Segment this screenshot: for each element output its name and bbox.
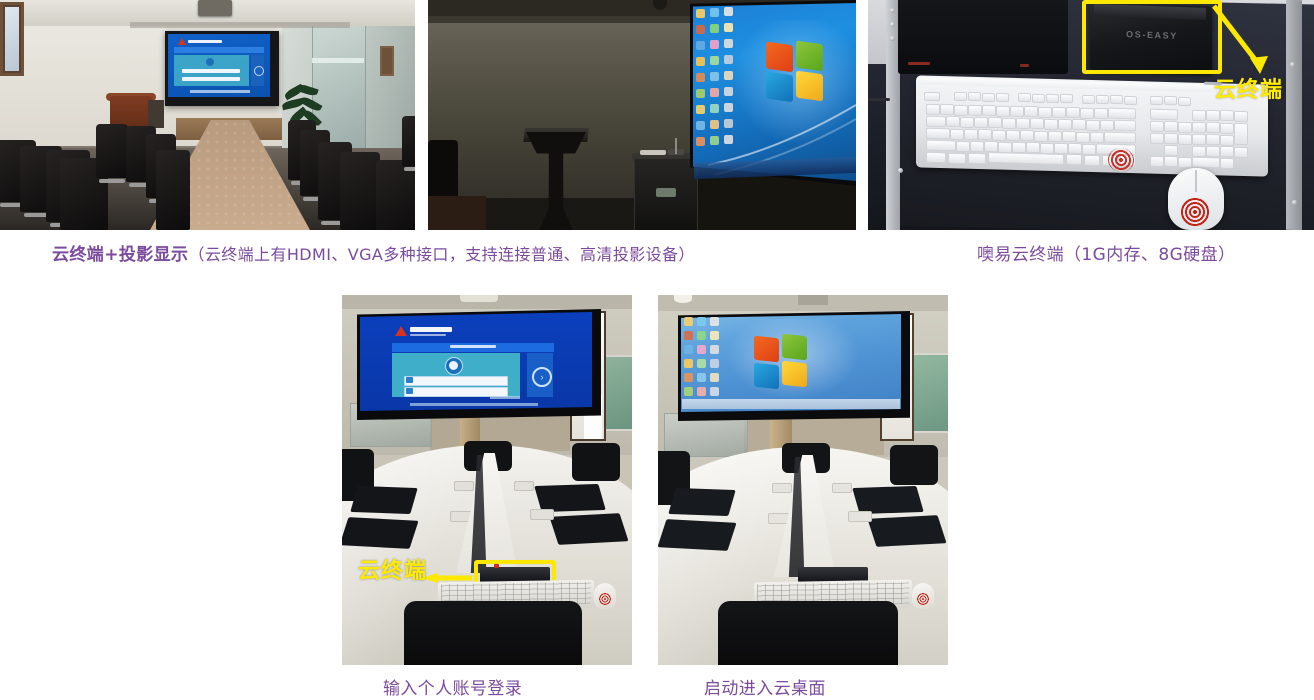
- key: [1044, 119, 1058, 130]
- username-field: [182, 69, 240, 73]
- login-hint-text: [490, 396, 520, 399]
- key: [1234, 111, 1248, 122]
- key-tab: [926, 116, 946, 128]
- key: [1150, 109, 1178, 121]
- tablet-panel: [350, 486, 417, 514]
- key: [1072, 119, 1086, 130]
- screw-icon: [1290, 62, 1295, 67]
- ceiling-vent: [798, 295, 828, 305]
- key: [1206, 134, 1220, 145]
- logo-wordmark: [410, 327, 452, 336]
- key-down-arrow: [1164, 156, 1178, 167]
- key-left-arrow: [1150, 156, 1164, 167]
- antenna-icon: [675, 138, 677, 154]
- table-port-plate: [530, 509, 554, 520]
- mouse-brand-seal: [916, 592, 930, 606]
- key-shift: [926, 140, 956, 152]
- key: [1110, 95, 1123, 104]
- chair: [96, 124, 128, 178]
- key-num-zero: [1192, 157, 1220, 169]
- key: [1024, 106, 1038, 117]
- user-icon: [406, 377, 413, 383]
- key: [984, 141, 998, 152]
- key: [1062, 131, 1076, 142]
- key: [1082, 144, 1096, 155]
- key: [1086, 120, 1100, 131]
- key: [996, 93, 1009, 102]
- callout-label-photo4: 云终端: [358, 553, 427, 585]
- caption-top-left-rest: （云终端上有HDMI、VGA多种接口，支持连接普通、高清投影设备）: [188, 245, 694, 264]
- tablet-panel: [668, 488, 735, 516]
- projector-icon: [198, 0, 232, 16]
- key: [1164, 133, 1178, 144]
- key: [1178, 134, 1192, 145]
- table-port-plate: [514, 481, 534, 491]
- key-capslock: [926, 128, 950, 140]
- callout-arrow-icon: [422, 570, 472, 580]
- key: [960, 117, 974, 128]
- key: [956, 141, 970, 152]
- key: [968, 105, 982, 116]
- key-plus: [1234, 123, 1248, 145]
- ceiling-beam: [428, 16, 693, 23]
- login-titlebar-text: [450, 345, 496, 348]
- key-enter-num: [1234, 147, 1248, 158]
- chair: [402, 116, 415, 166]
- wall-picture-frame-right: [380, 46, 394, 76]
- key: [1206, 110, 1220, 121]
- key: [1096, 95, 1109, 104]
- key-alt: [968, 153, 986, 164]
- tablet-panel: [549, 513, 628, 545]
- logo-triangle-icon: [178, 38, 186, 45]
- key-num-dot: [1220, 158, 1234, 169]
- key: [950, 129, 964, 140]
- screw-icon: [890, 36, 895, 41]
- ceiling-beam: [130, 22, 350, 28]
- photo-round-table-cloud-desktop: [658, 295, 948, 665]
- logo-triangle-icon: [395, 326, 407, 336]
- table-port-plate: [832, 483, 852, 493]
- screw-icon: [1292, 200, 1297, 205]
- windows-logo-green: [796, 41, 823, 72]
- side-table: [428, 196, 486, 230]
- key-ctrl: [926, 152, 946, 164]
- key: [964, 129, 978, 140]
- key: [974, 117, 988, 128]
- login-titlebar: [174, 47, 264, 53]
- key: [1058, 119, 1072, 130]
- caption-bottom-right-text: 启动进入云桌面: [704, 679, 826, 699]
- windows-logo-red: [766, 41, 793, 72]
- key: [1164, 96, 1177, 105]
- tablet-panel: [534, 484, 605, 512]
- login-logo-icon: [395, 326, 452, 336]
- wall-picture-frame: [0, 2, 24, 76]
- key: [1020, 130, 1034, 141]
- key: [970, 141, 984, 152]
- avatar: [445, 357, 463, 375]
- mouse-brand-seal: [598, 592, 612, 606]
- windows-logo-green: [782, 334, 807, 361]
- key: [1002, 118, 1016, 129]
- key: [1164, 121, 1178, 132]
- mouse-brand-seal: [1180, 196, 1210, 228]
- chair: [572, 443, 620, 481]
- key: [954, 92, 967, 101]
- key: [924, 92, 940, 101]
- key: [1178, 122, 1192, 133]
- key: [1192, 110, 1206, 121]
- caption-bottom-left-text: 输入个人账号登录: [383, 679, 522, 699]
- key: [946, 116, 960, 127]
- key: [1046, 94, 1059, 103]
- key: [1060, 94, 1073, 103]
- key: [1206, 122, 1220, 133]
- chair: [890, 445, 938, 485]
- key-return: [1104, 132, 1136, 144]
- key: [1030, 118, 1044, 129]
- table-port-plate: [848, 511, 872, 522]
- key-alt-right: [1066, 154, 1082, 165]
- caption-top-right-text: 噢易云终端（1G内存、8G硬盘）: [977, 245, 1235, 265]
- username-field: [404, 376, 508, 386]
- login-footer-text: [190, 90, 250, 93]
- key: [1220, 135, 1234, 146]
- key: [1124, 96, 1137, 105]
- key: [968, 92, 981, 101]
- key: [1048, 131, 1062, 142]
- key: [1192, 146, 1206, 157]
- key: [1094, 108, 1108, 119]
- key: [982, 93, 995, 102]
- key: [926, 104, 940, 115]
- key: [988, 117, 1002, 128]
- logo-wordmark: [188, 40, 222, 43]
- key: [1220, 146, 1234, 157]
- key: [982, 105, 996, 116]
- caption-bottom-right: 启动进入云桌面: [704, 674, 826, 699]
- key: [1178, 97, 1191, 106]
- key: [1012, 142, 1026, 153]
- key: [1150, 121, 1164, 132]
- windows-logo-yellow: [782, 361, 807, 388]
- key: [1080, 108, 1094, 119]
- key: [1192, 122, 1206, 133]
- key: [1206, 146, 1220, 157]
- callout-label-photo3: 云终端: [1214, 72, 1283, 104]
- key: [1018, 93, 1031, 102]
- key: [1068, 143, 1082, 154]
- photo-cloud-terminal-keyboard-closeup: OS-EASY: [868, 0, 1314, 230]
- key: [1034, 131, 1048, 142]
- key: [1090, 132, 1104, 143]
- windows-logo-icon: [754, 337, 810, 389]
- login-footer-text: [410, 403, 538, 406]
- key: [1010, 106, 1024, 117]
- chair: [156, 150, 190, 230]
- caption-top-left: 云终端+投影显示（云终端上有HDMI、VGA多种接口，支持连接普通、高清投影设备…: [52, 240, 695, 265]
- login-submit-icon: [254, 66, 264, 76]
- key: [1082, 95, 1095, 104]
- caption-bottom-left: 输入个人账号登录: [383, 674, 522, 699]
- foreground-chair: [718, 601, 898, 665]
- keyboard-brand-seal: [1108, 148, 1134, 173]
- tablet-panel: [852, 486, 923, 514]
- chair: [340, 152, 380, 230]
- callout-arrow-icon: [1208, 4, 1278, 80]
- tablet-panel: [867, 515, 946, 547]
- key-up-arrow: [1164, 145, 1178, 156]
- caption-top-right: 噢易云终端（1G内存、8G硬盘）: [977, 240, 1235, 265]
- key: [1192, 134, 1206, 145]
- windows-logo-tiles: [754, 337, 810, 389]
- key: [1076, 132, 1090, 143]
- highlight-box-cloud-terminal: [1082, 0, 1222, 74]
- photo-dark-room-windows-desktop: [428, 0, 856, 230]
- cabinet-panel: [656, 188, 676, 197]
- key: [940, 104, 954, 115]
- windows-logo-red: [754, 336, 779, 363]
- windows-logo-blue: [754, 363, 779, 390]
- key: [1032, 94, 1045, 103]
- callout-arrow-svg: [1208, 4, 1278, 80]
- whiteboard: [910, 353, 948, 433]
- key: [1150, 133, 1164, 144]
- tower-led: [1020, 64, 1029, 67]
- key: [1052, 107, 1066, 118]
- key: [1006, 130, 1020, 141]
- key: [1150, 96, 1163, 105]
- ceiling-light: [460, 295, 498, 302]
- key-enter: [1114, 120, 1136, 132]
- table-port-plate: [772, 483, 792, 493]
- key: [954, 105, 968, 116]
- key-menu: [1084, 155, 1100, 166]
- key: [1016, 118, 1030, 129]
- desk-rail-right: [1286, 0, 1302, 230]
- key-backspace: [1108, 108, 1136, 120]
- screw-icon: [890, 8, 895, 13]
- cable: [868, 98, 890, 101]
- key: [978, 129, 992, 140]
- key-right-arrow: [1178, 157, 1192, 168]
- key: [1220, 110, 1234, 121]
- windows-taskbar: [682, 399, 900, 409]
- password-field: [182, 77, 240, 81]
- key-win: [948, 153, 966, 164]
- ceiling-light: [674, 295, 692, 303]
- foreground-chair: [404, 601, 582, 665]
- screw-icon: [898, 168, 903, 173]
- screw-icon: [890, 22, 895, 27]
- cabinet-device: [640, 150, 666, 155]
- table-port-plate: [454, 481, 474, 491]
- photo-conference-room-projection: [0, 0, 415, 230]
- mouse-button-split: [1195, 170, 1197, 192]
- key: [992, 130, 1006, 141]
- key-space: [988, 152, 1064, 165]
- desktop-icons-group: [684, 317, 720, 401]
- login-submit-button-icon: ›: [532, 367, 552, 387]
- tower-badge: [908, 62, 930, 65]
- key: [1038, 107, 1052, 118]
- key: [996, 106, 1010, 117]
- login-logo-icon: [178, 38, 222, 45]
- tablet-panel: [342, 517, 419, 549]
- key: [1100, 120, 1114, 131]
- key: [1220, 123, 1234, 134]
- podium-equipment: [148, 100, 164, 128]
- caption-top-left-bold: 云终端+投影显示: [52, 245, 188, 265]
- photo-round-table-login: › 云终端: [342, 295, 632, 665]
- glass-door-band: [312, 58, 364, 63]
- key: [1026, 142, 1040, 153]
- avatar: [206, 58, 214, 66]
- key: [1054, 143, 1068, 154]
- key: [1066, 107, 1080, 118]
- lock-icon: [406, 388, 413, 394]
- tablet-panel: [658, 519, 737, 551]
